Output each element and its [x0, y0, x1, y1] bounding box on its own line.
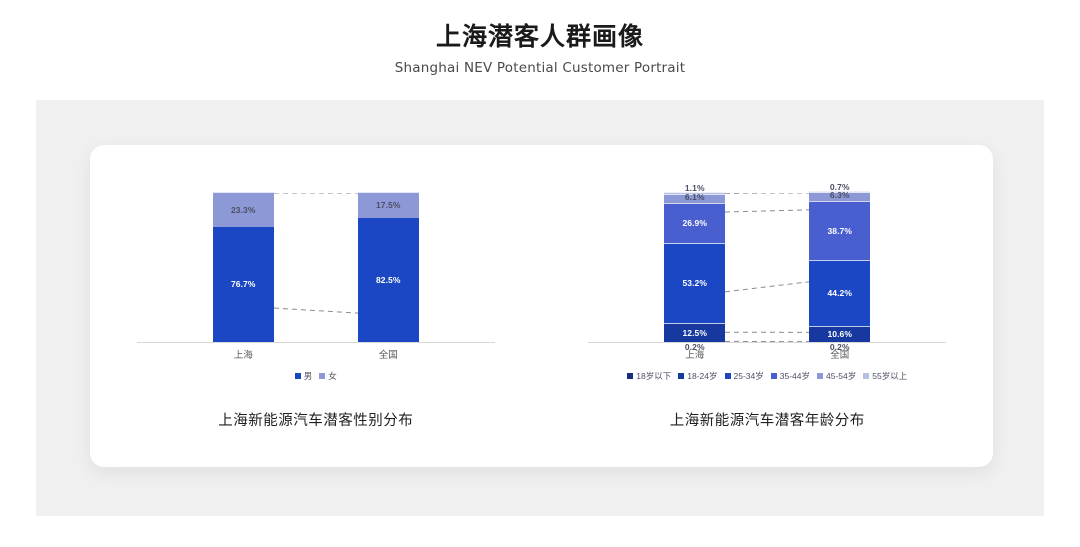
age-legend-item[interactable]: 35-44岁	[771, 370, 810, 382]
page-header: 上海潜客人群画像 Shanghai NEV Potential Customer…	[0, 0, 1080, 76]
age-legend-item[interactable]: 55岁以上	[863, 370, 907, 382]
age-segment-label: 6.3%	[830, 191, 850, 200]
gender-connector-lines	[137, 193, 495, 343]
age-segment-35-44岁[interactable]: 38.7%	[809, 201, 870, 259]
age-category-labels: 上海 全国	[588, 343, 946, 361]
gender-legend: 男女	[295, 369, 337, 383]
legend-swatch-icon	[817, 373, 823, 379]
charts-row: 23.3%76.7% 17.5%82.5% 上海 全国 男女 上海新能源汽车潜客…	[90, 145, 993, 467]
gender-chart-caption: 上海新能源汽车潜客性别分布	[218, 409, 413, 430]
age-legend-label: 35-44岁	[780, 370, 810, 382]
age-segment-18-24岁[interactable]: 12.5%	[664, 323, 725, 342]
legend-swatch-icon	[678, 373, 684, 379]
legend-swatch-icon	[319, 373, 325, 379]
age-segment-label: 10.6%	[827, 330, 852, 339]
age-segment-label: 44.2%	[827, 289, 852, 298]
gender-segment-女[interactable]: 23.3%	[213, 192, 274, 227]
age-legend-item[interactable]: 25-34岁	[725, 370, 764, 382]
age-legend-label: 45-54岁	[826, 370, 856, 382]
age-legend-label: 18岁以下	[636, 370, 671, 382]
gender-category-1: 全国	[358, 347, 419, 361]
age-category-1: 全国	[809, 347, 870, 361]
age-segment-18-24岁[interactable]: 10.6%	[809, 326, 870, 342]
gender-segment-label: 17.5%	[376, 201, 401, 210]
legend-swatch-icon	[771, 373, 777, 379]
age-legend-label: 25-34岁	[734, 370, 764, 382]
age-segment-25-34岁[interactable]: 44.2%	[809, 260, 870, 326]
age-segment-35-44岁[interactable]: 26.9%	[664, 203, 725, 243]
gender-segment-label: 76.7%	[231, 280, 256, 289]
gender-segment-label: 82.5%	[376, 276, 401, 285]
age-segment-label: 12.5%	[682, 329, 707, 338]
age-legend-item[interactable]: 18-24岁	[678, 370, 717, 382]
age-legend-label: 18-24岁	[687, 370, 717, 382]
gender-segment-男[interactable]: 76.7%	[213, 227, 274, 342]
gender-legend-item[interactable]: 男	[295, 370, 313, 382]
gender-category-0: 上海	[213, 347, 274, 361]
age-category-0: 上海	[664, 347, 725, 361]
gender-legend-label: 女	[328, 370, 337, 382]
gender-legend-label: 男	[304, 370, 313, 382]
page-subtitle: Shanghai NEV Potential Customer Portrait	[0, 60, 1080, 76]
age-segment-label: 53.2%	[682, 279, 707, 288]
age-bar-shanghai[interactable]: 1.1%6.1%26.9%53.2%12.5%0.2%	[664, 192, 725, 342]
gender-legend-item[interactable]: 女	[319, 370, 337, 382]
legend-swatch-icon	[627, 373, 633, 379]
age-legend-item[interactable]: 45-54岁	[817, 370, 856, 382]
gender-segment-男[interactable]: 82.5%	[358, 218, 419, 342]
legend-swatch-icon	[725, 373, 731, 379]
age-segment-45-54岁[interactable]: 6.1%	[664, 194, 725, 203]
page-title: 上海潜客人群画像	[0, 22, 1080, 53]
age-segment-label: 6.1%	[685, 193, 705, 202]
gender-bar-shanghai[interactable]: 23.3%76.7%	[213, 192, 274, 342]
legend-swatch-icon	[863, 373, 869, 379]
legend-swatch-icon	[295, 373, 301, 379]
gender-category-labels: 上海 全国	[137, 343, 495, 361]
gender-segment-女[interactable]: 17.5%	[358, 192, 419, 218]
age-chart-caption: 上海新能源汽车潜客年龄分布	[670, 409, 865, 430]
age-legend-label: 55岁以上	[872, 370, 907, 382]
age-segment-45-54岁[interactable]: 6.3%	[809, 192, 870, 201]
gender-plot-area: 23.3%76.7% 17.5%82.5%	[137, 193, 495, 343]
gender-bar-national[interactable]: 17.5%82.5%	[358, 192, 419, 342]
age-segment-label: 26.9%	[682, 219, 707, 228]
age-connector-lines	[588, 193, 946, 343]
age-chart: 1.1%6.1%26.9%53.2%12.5%0.2% 0.7%6.3%38.7…	[542, 145, 994, 467]
age-segment-label: 38.7%	[827, 227, 852, 236]
age-legend: 18岁以下18-24岁25-34岁35-44岁45-54岁55岁以上	[627, 369, 907, 383]
age-legend-item[interactable]: 18岁以下	[627, 370, 671, 382]
age-segment-25-34岁[interactable]: 53.2%	[664, 243, 725, 323]
gender-segment-label: 23.3%	[231, 206, 256, 215]
gender-chart: 23.3%76.7% 17.5%82.5% 上海 全国 男女 上海新能源汽车潜客…	[90, 145, 542, 467]
age-plot-area: 1.1%6.1%26.9%53.2%12.5%0.2% 0.7%6.3%38.7…	[588, 193, 946, 343]
age-bar-national[interactable]: 0.7%6.3%38.7%44.2%10.6%0.2%	[809, 191, 870, 342]
